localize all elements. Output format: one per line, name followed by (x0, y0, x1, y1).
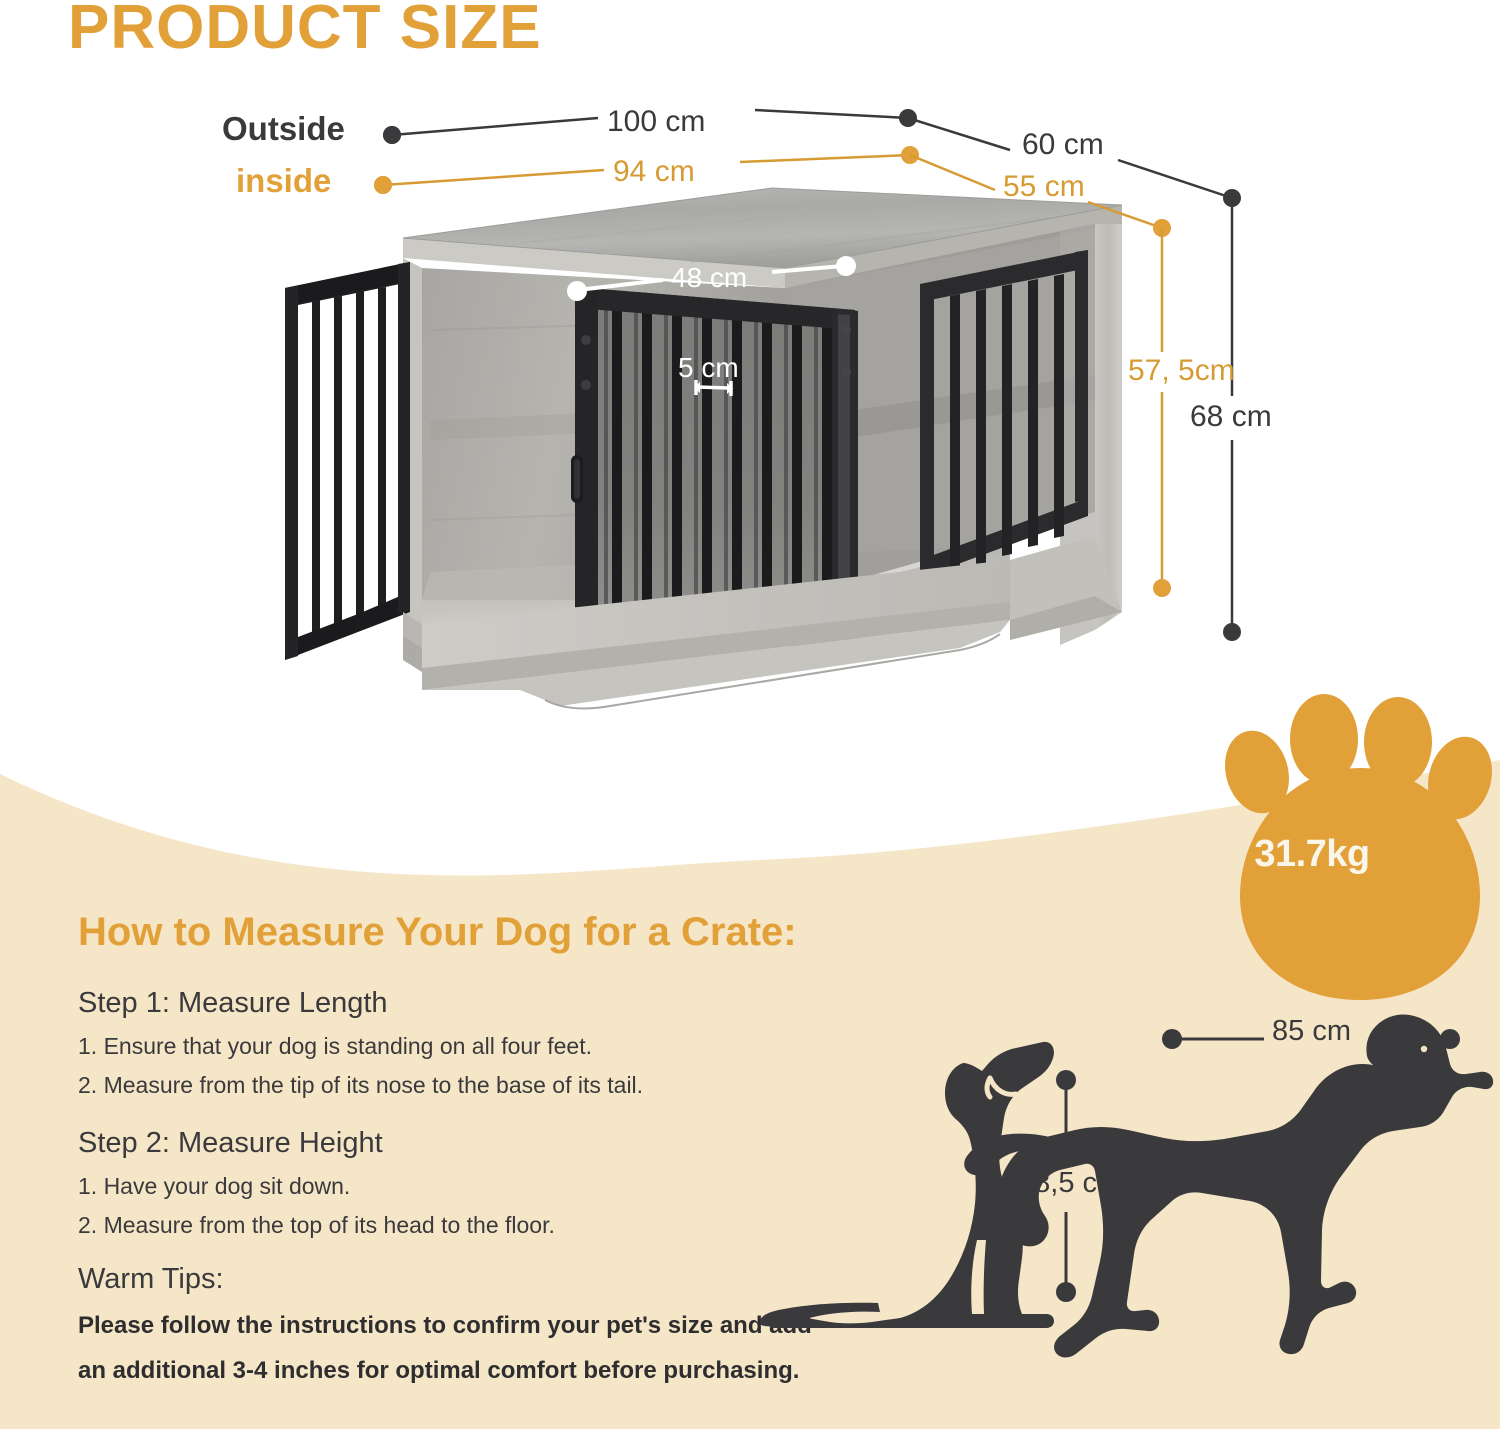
crate-open-left-door (285, 262, 410, 660)
crate-right-bars (920, 250, 1088, 578)
dimension-label-inside-width: 94 cm (613, 155, 695, 189)
step2-line-1: 1. Have your dog sit down. (78, 1173, 350, 1200)
dimension-label-dog-length: 85 cm (1272, 1015, 1351, 1048)
crate-front-door-assembly (571, 287, 858, 650)
dimension-inside-height (1153, 228, 1171, 597)
crate-interior-floor (422, 545, 1010, 640)
dimension-label-inside-depth: 55 cm (1003, 170, 1085, 204)
crate-right-interior (785, 224, 1095, 600)
dimension-label-door-width: 48 cm (671, 262, 747, 294)
warm-tips-line-1: Please follow the instructions to confir… (78, 1312, 812, 1340)
warm-tips-heading: Warm Tips: (78, 1263, 224, 1296)
howto-title: How to Measure Your Dog for a Crate: (78, 910, 797, 955)
dimension-label-dog-height: 48,5 cm (1018, 1167, 1121, 1200)
dimension-label-inside-height: 57, 5cm (1128, 354, 1235, 388)
legend-label-outside: Outside (222, 110, 345, 148)
step1-line-1: 1. Ensure that your dog is standing on a… (78, 1033, 592, 1060)
legend-label-inside: inside (236, 162, 331, 200)
legend-dot-outside (383, 126, 401, 144)
dimension-label-outside-width: 100 cm (607, 105, 705, 139)
crate-base-right (1010, 536, 1122, 640)
dimension-label-bar-gap: 5 cm (678, 352, 739, 384)
crate-interior-back-wall (422, 268, 785, 600)
crate-left-side-panel (403, 258, 422, 652)
step1-line-2: 2. Measure from the tip of its nose to t… (78, 1072, 643, 1099)
crate-right-frame (1060, 224, 1122, 645)
step2-heading: Step 2: Measure Height (78, 1127, 383, 1160)
infographic-page: PRODUCT SIZE (0, 0, 1500, 1429)
page-title: PRODUCT SIZE (68, 0, 542, 63)
step1-heading: Step 1: Measure Length (78, 987, 388, 1020)
legend-dot-inside (374, 176, 392, 194)
dimension-label-outside-depth: 60 cm (1022, 128, 1104, 162)
dimension-label-outside-height: 68 cm (1190, 400, 1272, 434)
weight-badge: 31.7kg (1232, 833, 1392, 876)
step2-line-2: 2. Measure from the top of its head to t… (78, 1212, 555, 1239)
crate-base-plinth (403, 560, 1010, 708)
warm-tips-line-2: an additional 3-4 inches for optimal com… (78, 1357, 799, 1385)
